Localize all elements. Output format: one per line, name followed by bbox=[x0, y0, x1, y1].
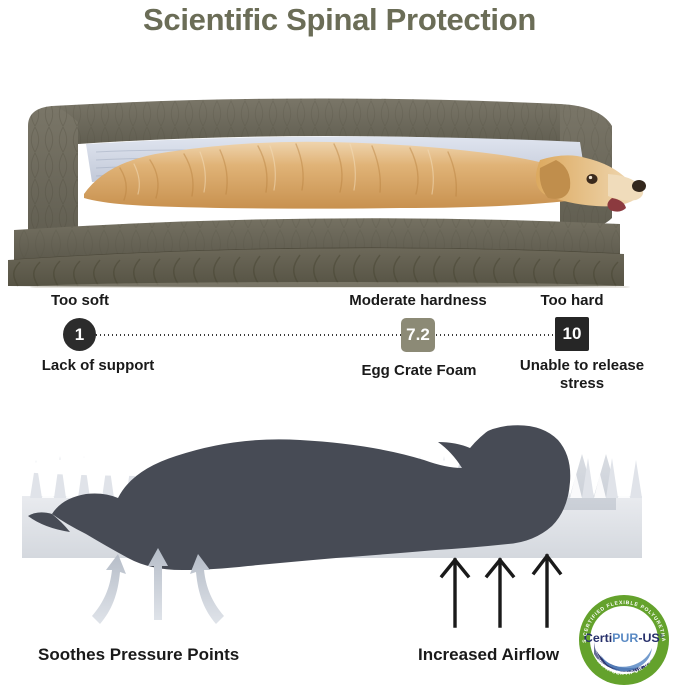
logo-us: -US bbox=[638, 631, 659, 645]
certipur-us-logo: CertiPUR-US® CONTAINS CERTIFIED FLEXIBLE… bbox=[574, 592, 674, 688]
caption-soothes-pressure-points: Soothes Pressure Points bbox=[38, 645, 239, 665]
scale-top-label-hard: Too hard bbox=[498, 292, 646, 310]
product-photo bbox=[0, 48, 679, 288]
caption-increased-airflow: Increased Airflow bbox=[418, 645, 559, 665]
hardness-scale: Too soft 1 Lack of support Moderate hard… bbox=[0, 292, 679, 392]
airflow-arrows bbox=[442, 556, 560, 626]
logo-pur: PUR bbox=[612, 631, 638, 645]
scale-top-label-moderate: Moderate hardness bbox=[318, 292, 518, 310]
scale-top-label-soft: Too soft bbox=[10, 292, 150, 310]
scale-dotted-line bbox=[72, 334, 588, 336]
scale-marker-soft[interactable]: 1 bbox=[63, 318, 96, 351]
scale-marker-hard[interactable]: 10 bbox=[555, 317, 589, 351]
certipur-logo-svg: CertiPUR-US® CONTAINS CERTIFIED FLEXIBLE… bbox=[574, 592, 674, 688]
infographic-page: Scientific Spinal Protection bbox=[0, 0, 679, 689]
scale-bottom-label-moderate: Egg Crate Foam bbox=[326, 362, 512, 380]
page-title: Scientific Spinal Protection bbox=[0, 2, 679, 38]
scale-bottom-label-soft: Lack of support bbox=[0, 357, 196, 375]
dog-bed-photo-illustration bbox=[0, 48, 679, 288]
logo-wordmark: CertiPUR-US® bbox=[584, 631, 665, 645]
scale-bottom-label-hard: Unable to release stress bbox=[500, 357, 664, 392]
scale-marker-moderate[interactable]: 7.2 bbox=[401, 318, 435, 352]
